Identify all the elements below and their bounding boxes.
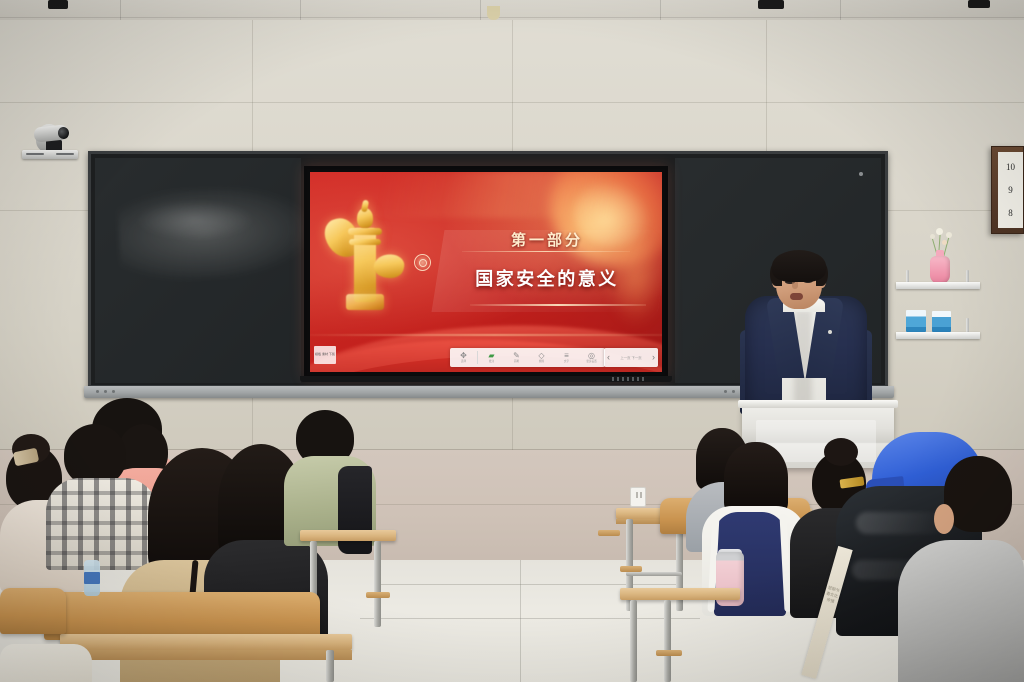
toolbar-select-label: 选择 [461, 360, 466, 363]
bench-left-second [0, 588, 66, 634]
blue-tissue-box-2 [932, 311, 951, 332]
slide-kicker: 第一部分 [462, 229, 632, 250]
toolbar-text-label: 文字 [564, 360, 569, 363]
golden-monument-statue-icon [324, 198, 410, 310]
wave-highlight-line [310, 334, 662, 336]
wall-number-frame: 10 9 8 [991, 146, 1024, 234]
classroom-scene: 第一部分 国家安全的意义 模板 素材 下载 ✥ 选择 ▰ 批注 [0, 0, 1024, 682]
slide-title-rule [470, 304, 646, 306]
ptz-camera-mount [22, 150, 78, 159]
cursor-select-icon: ✥ [460, 352, 467, 360]
desk-clutter-white [0, 644, 92, 682]
slide-page-indicator: 上一页 下一页 [620, 355, 641, 360]
chalk-smudge-secondary [135, 200, 255, 240]
blackboard-left-panel [95, 158, 301, 383]
prev-slide-icon[interactable]: ‹ [607, 353, 610, 362]
slide-title: 国家安全的意义 [438, 265, 656, 291]
slide-watermark-text: 模板 素材 下载 [315, 353, 335, 356]
podium-top [738, 400, 898, 408]
hair-bun [824, 438, 858, 466]
bench-left-front [44, 592, 320, 640]
national-emblem-icon [414, 254, 431, 271]
slide-kicker-rule [462, 251, 630, 252]
slide-watermark: 模板 素材 下载 [314, 346, 336, 364]
speaker-lapel-pin [828, 330, 832, 334]
toolbar-eraser-tool[interactable]: ◇ 擦除 [529, 348, 554, 367]
ceiling-smoke-detector [487, 6, 500, 20]
lower-shelf [896, 332, 980, 339]
pen-green-icon: ▰ [488, 352, 494, 360]
toolbar-eraser-label: 擦除 [539, 360, 544, 363]
desk-leg-front [326, 650, 334, 682]
speaker-hair [772, 250, 826, 282]
slide-navigation[interactable]: ‹ 上一页 下一页 › [604, 348, 658, 367]
desk-left-front [60, 634, 352, 650]
slide-canvas[interactable]: 第一部分 国家安全的意义 模板 素材 下载 ✥ 选择 ▰ 批注 [310, 172, 662, 372]
frame-number-10: 10 [1006, 162, 1015, 172]
pencil-icon: ✎ [513, 352, 520, 360]
desk-right-block-rail [598, 530, 620, 536]
eraser-icon: ◇ [538, 352, 544, 360]
board-marker-dot [859, 172, 863, 176]
toolbar-text-tool[interactable]: ≡ 文字 [554, 348, 579, 367]
slide-toolbar[interactable]: ✥ 选择 ▰ 批注 ✎ 画笔 ◇ 擦除 ≡ 文字 [450, 348, 605, 367]
toolbar-settings-label: 更多设置 [586, 360, 596, 363]
presentation-display[interactable]: 第一部分 国家安全的意义 模板 素材 下载 ✥ 选择 ▰ 批注 [304, 166, 668, 378]
wall-number-frame-inner: 10 9 8 [998, 152, 1023, 228]
frame-number-9: 9 [1008, 185, 1013, 195]
frame-number-8: 8 [1008, 208, 1013, 218]
ceiling-speaker-right [758, 0, 784, 9]
wall-power-outlet [630, 487, 646, 507]
blue-tissue-box-1 [906, 310, 926, 332]
ceiling-speaker-left [48, 0, 68, 9]
text-icon: ≡ [564, 352, 569, 360]
ceiling-speaker-far-right [968, 0, 990, 8]
toolbar-annotate-tool[interactable]: ▰ 批注 [479, 348, 504, 367]
toolbar-divider [477, 351, 478, 364]
display-indicator-leds [612, 377, 646, 381]
toolbar-pencil-label: 画笔 [514, 360, 519, 363]
ear-icon [934, 504, 954, 534]
toolbar-settings-tool[interactable]: ◎ 更多设置 [579, 348, 604, 367]
settings-icon: ◎ [588, 352, 595, 360]
bottle-label [84, 572, 100, 584]
next-slide-icon[interactable]: › [652, 353, 655, 362]
upper-shelf [896, 282, 980, 289]
speaker-mouth [790, 293, 803, 300]
toolbar-pencil-tool[interactable]: ✎ 画笔 [504, 348, 529, 367]
pink-vase [930, 256, 950, 284]
desk-left-front-edge [60, 650, 352, 660]
toolbar-annotate-label: 批注 [489, 360, 494, 363]
toolbar-select-tool[interactable]: ✥ 选择 [451, 348, 476, 367]
